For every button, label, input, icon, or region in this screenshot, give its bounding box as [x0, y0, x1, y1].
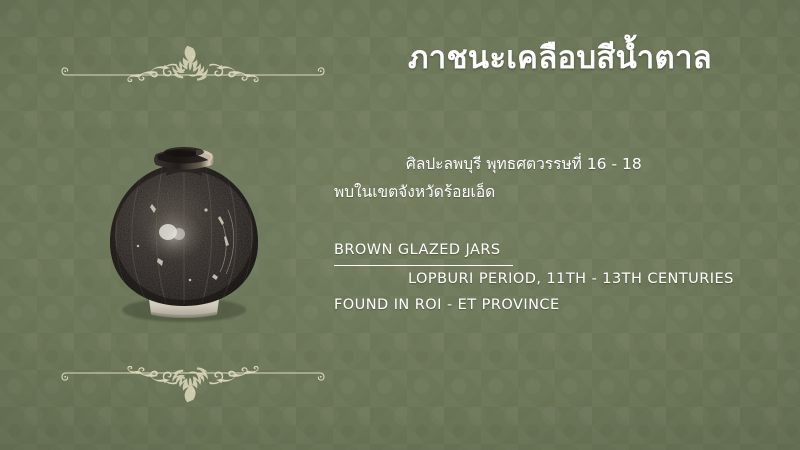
caption-english-line-1: LOPBURI PERIOD, 11TH - 13TH CENTURIES [334, 266, 734, 292]
caption-thai-line-2: พบในเขตจังหวัดร้อยเอ็ด [334, 178, 734, 206]
caption-thai-line-1: ศิลปะลพบุรี พุทธศตวรรษที่ 16 - 18 [334, 150, 734, 178]
brown-glazed-jar-photo [78, 124, 290, 334]
damask-flourish-divider-bottom-icon [58, 358, 328, 404]
caption-english-line-2: FOUND IN ROI - ET PROVINCE [334, 292, 734, 318]
caption-english-heading-row: BROWN GLAZED JARS [334, 236, 734, 266]
caption-english: BROWN GLAZED JARS LOPBURI PERIOD, 11TH -… [334, 236, 734, 318]
page-title: ภาชนะเคลือบสีน้ำตาล [340, 38, 780, 80]
museum-exhibit-slide: ภาชนะเคลือบสีน้ำตาล ศิลปะลพบุรี พุทธศตวร… [0, 0, 800, 450]
caption-thai: ศิลปะลพบุรี พุทธศตวรรษที่ 16 - 18 พบในเข… [334, 150, 734, 206]
damask-flourish-divider-top-icon [58, 44, 328, 90]
caption-english-heading: BROWN GLAZED JARS [334, 237, 513, 266]
